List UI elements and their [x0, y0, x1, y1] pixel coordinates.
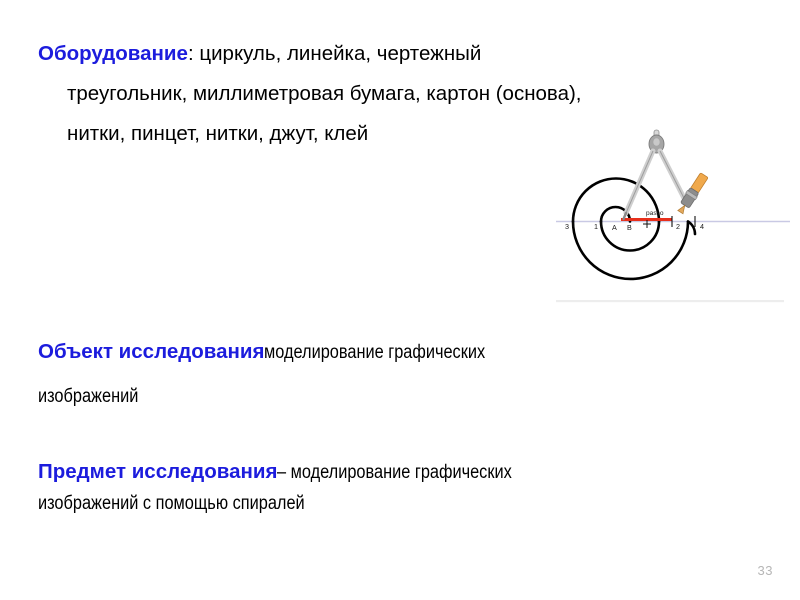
spiral-construction-figure: 3 1 A B 2 4 passo	[548, 124, 798, 306]
object-line-2-text: изображений	[38, 375, 138, 418]
label-3: 3	[565, 222, 569, 231]
subject-line-2: изображений с помощью спиралей	[38, 489, 738, 520]
equipment-keyword: Оборудование	[38, 42, 188, 65]
equipment-line-1-rest: циркуль, линейка, чертежный	[199, 42, 481, 65]
equipment-separator: :	[188, 42, 199, 65]
slide-canvas: Оборудование: циркуль, линейка, чертежны…	[0, 0, 800, 600]
object-line-2: изображений	[38, 375, 718, 419]
equipment-text-block: Оборудование: циркуль, линейка, чертежны…	[38, 34, 568, 154]
label-2: 2	[676, 222, 680, 231]
compass-leg-right-edge	[660, 151, 687, 204]
subject-keyword: Предмет исследования	[38, 460, 277, 483]
label-4: 4	[700, 222, 704, 231]
object-of-study-block: Объект исследования моделирование графич…	[38, 330, 718, 419]
object-line-1-rest: моделирование графических	[264, 331, 485, 374]
equipment-line-3: нитки, пинцет, нитки, джут, клей	[38, 114, 568, 154]
subject-line-1: Предмет исследования – моделирование гра…	[38, 457, 738, 489]
spiral-arc-tail	[688, 222, 695, 235]
figure-baseline-shadow	[556, 300, 784, 302]
subject-line-1-rest: – моделирование графических	[277, 458, 512, 488]
label-A: A	[612, 223, 617, 232]
label-B: B	[627, 223, 632, 232]
object-keyword: Объект исследования	[38, 340, 264, 363]
object-line-1: Объект исследования моделирование графич…	[38, 330, 718, 375]
equipment-line-2: треугольник, миллиметровая бумага, карто…	[38, 74, 568, 114]
compass-hinge-highlight	[653, 138, 659, 146]
equipment-line-1: Оборудование: циркуль, линейка, чертежны…	[38, 34, 568, 74]
subject-line-2-text: изображений с помощью спиралей	[38, 489, 305, 519]
subject-of-study-block: Предмет исследования – моделирование гра…	[38, 457, 738, 520]
compass-icon	[624, 130, 710, 219]
label-1: 1	[594, 222, 598, 231]
page-number: 33	[758, 563, 773, 578]
label-passo: passo	[646, 210, 664, 217]
